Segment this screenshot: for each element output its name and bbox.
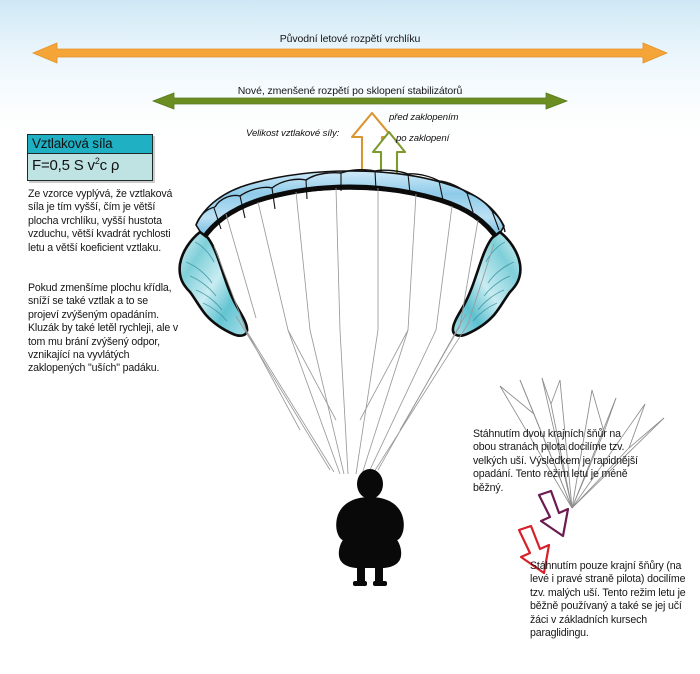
lift-formula-box: Vztlaková síla F=0,5 S v2c ρ [27, 134, 153, 181]
reduced-span-title: Nové, zmenšené rozpětí po sklopení stabi… [0, 85, 700, 97]
lift-magnitude-label: Velikost vztlakové síly: [246, 128, 339, 139]
big-ears-pull-arrow [539, 491, 568, 536]
paraglider-ears-diagram: Původní letové rozpětí vrchlíku Nové, zm… [0, 0, 700, 674]
paragraph-reduced-area: Pokud zmenšíme plochu křídla, sníží se t… [28, 282, 180, 376]
formula-suffix: c ρ [100, 157, 120, 174]
original-span-title: Původní letové rozpětí vrchlíku [0, 33, 700, 45]
lift-before-label: před zaklopením [389, 112, 458, 123]
lift-formula-title: Vztlaková síla [28, 135, 152, 154]
canopy-cells [196, 170, 505, 240]
paragraph-small-ears: Stáhnutím pouze krajní šňůry (na levé i … [530, 560, 690, 640]
original-span-arrow [33, 43, 667, 63]
collapsed-ear-left [180, 232, 247, 336]
lift-after-label: po zaklopení [396, 133, 449, 144]
pilot-silhouette [336, 469, 404, 586]
paragraph-lift-explanation: Ze vzorce vyplývá, že vztlaková síla je … [28, 188, 178, 255]
formula-prefix: F=0,5 S v [32, 157, 95, 174]
lift-formula-body: F=0,5 S v2c ρ [28, 154, 152, 180]
paragraph-big-ears: Stáhnutím dvou krajních šňůr na obou str… [473, 428, 639, 495]
